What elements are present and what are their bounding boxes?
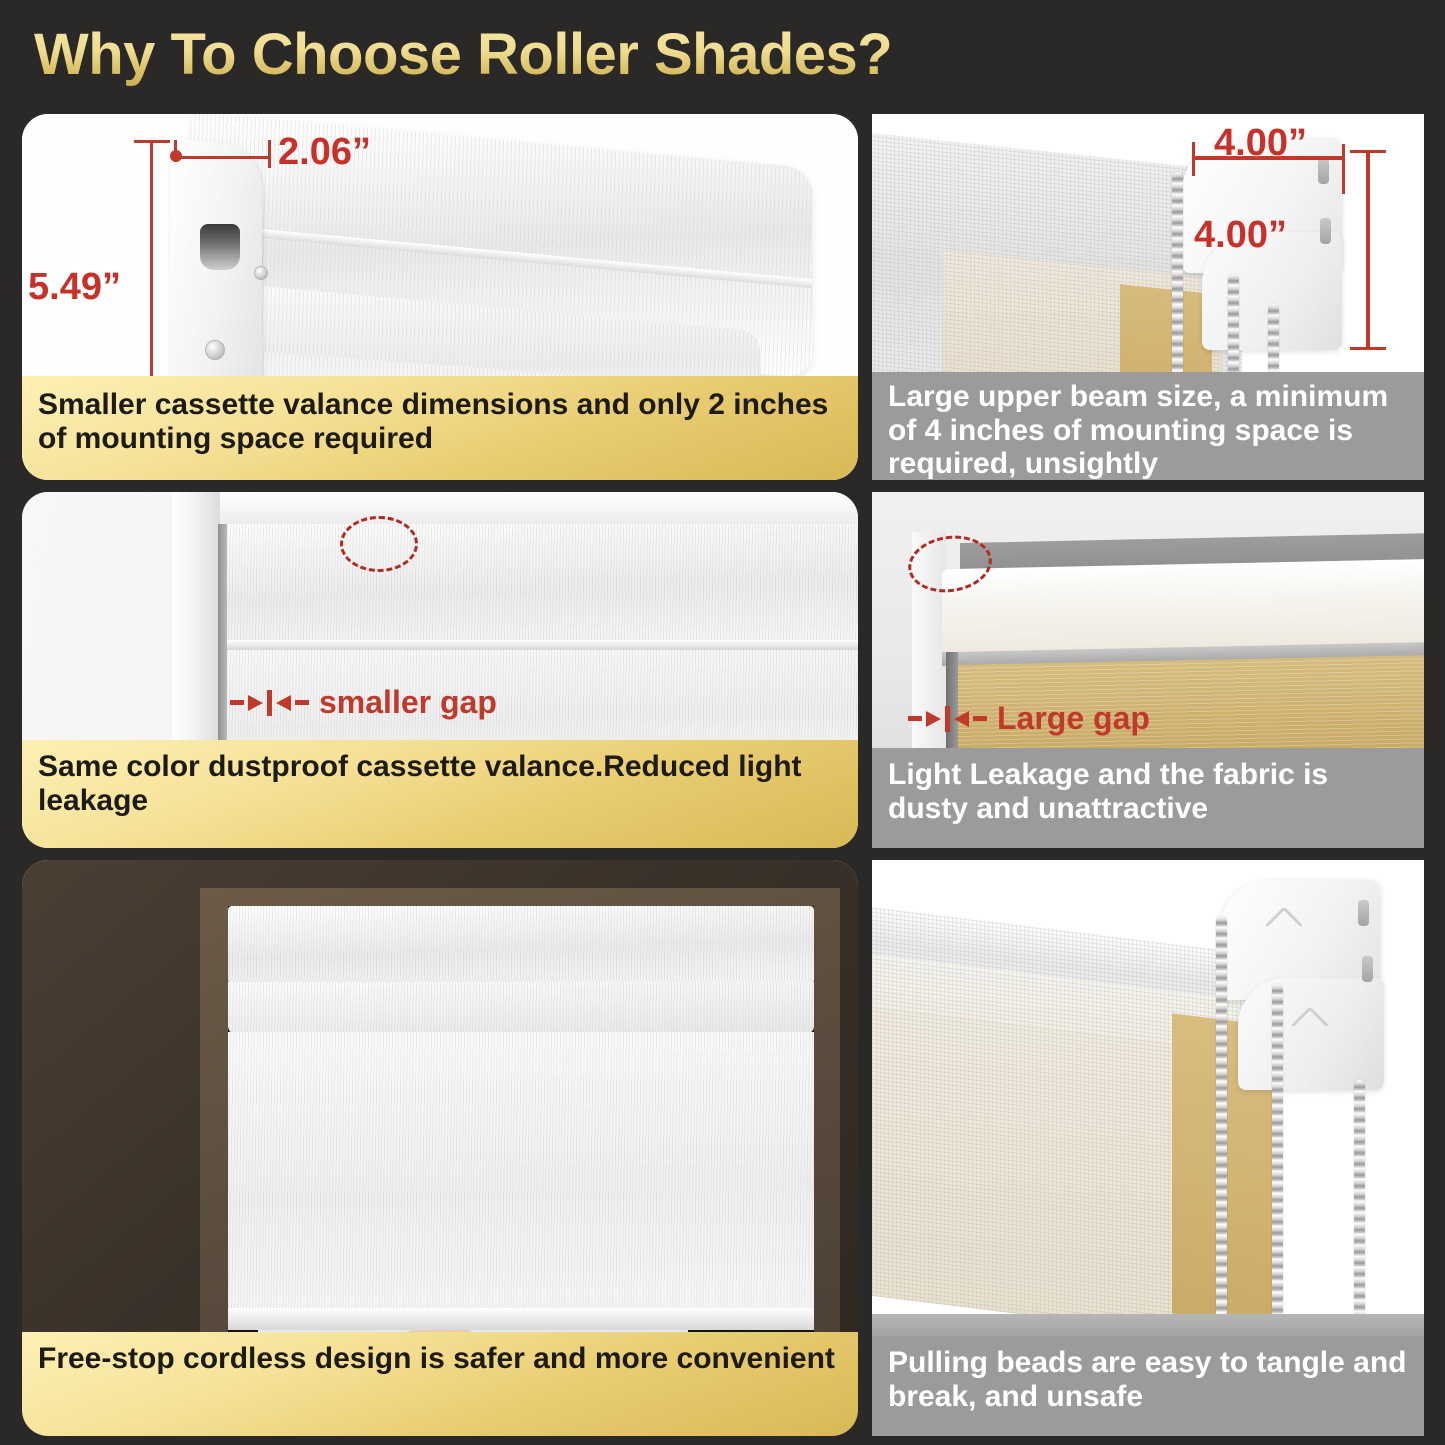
dimension-width-label: 2.06” bbox=[278, 131, 371, 174]
arrow-right-icon bbox=[926, 711, 941, 727]
valance-end-slot bbox=[200, 224, 240, 270]
smaller-gap-annotation: smaller gap bbox=[230, 684, 497, 721]
panel-cassette-valance-dimensions: 2.06” 5.49” Smaller cassette valance dim… bbox=[22, 114, 858, 480]
bracket-slot-2-icon bbox=[1362, 956, 1373, 982]
caption-large-upper-beam: Large upper beam size, a minimum of 4 in… bbox=[872, 372, 1424, 480]
arrow-right-icon bbox=[248, 695, 263, 711]
dimension-height-label: 5.49” bbox=[28, 266, 121, 309]
bead-chain-right bbox=[1354, 1080, 1365, 1334]
floor-shadow-band bbox=[872, 1314, 1424, 1336]
caption-pulling-beads: Pulling beads are easy to tangle and bre… bbox=[872, 1336, 1424, 1436]
page-title: Why To Choose Roller Shades? bbox=[34, 21, 892, 88]
large-gap-label: Large gap bbox=[997, 700, 1150, 737]
panel-pulling-beads: Pulling beads are easy to tangle and bre… bbox=[872, 860, 1424, 1436]
caption-free-stop-cordless: Free-stop cordless design is safer and m… bbox=[22, 1332, 858, 1436]
shade-cassette-head bbox=[228, 906, 814, 984]
bracket-slot-icon bbox=[1358, 900, 1369, 926]
bracket-slot-2-icon bbox=[1320, 218, 1331, 244]
shade-cassette-lip bbox=[228, 982, 814, 1034]
bracket-slot-icon bbox=[1318, 158, 1329, 184]
arrow-stem-left bbox=[295, 700, 309, 705]
panel-free-stop-cordless: Free-stop cordless design is safer and m… bbox=[22, 860, 858, 1436]
smaller-gap-label: smaller gap bbox=[319, 684, 497, 721]
dim-dot-icon bbox=[170, 150, 182, 162]
caption-dustproof-cassette-valance: Same color dustproof cassette valance.Re… bbox=[22, 740, 858, 848]
dim-tick-right bbox=[268, 140, 271, 168]
caption-light-leakage: Light Leakage and the fabric is dusty an… bbox=[872, 748, 1424, 848]
valance-screw-icon bbox=[205, 340, 225, 360]
panel-light-leakage: Large gap Light Leakage and the fabric i… bbox=[872, 492, 1424, 848]
arrow-stem-right bbox=[230, 700, 244, 705]
beam-width-label: 4.00” bbox=[1214, 122, 1307, 165]
comparison-grid: 2.06” 5.49” Smaller cassette valance dim… bbox=[0, 108, 1445, 1445]
arrow-stem-left bbox=[973, 716, 987, 721]
arrow-left-icon bbox=[276, 695, 291, 711]
caption-cassette-valance-dimensions: Smaller cassette valance dimensions and … bbox=[22, 376, 858, 480]
window-frame-top bbox=[172, 492, 858, 526]
beam-dim-tick-top bbox=[1350, 150, 1386, 153]
beam-dim-line-height bbox=[1366, 150, 1370, 350]
arrow-left-icon bbox=[954, 711, 969, 727]
shade-fabric-panel bbox=[228, 1032, 814, 1322]
bead-chain-left bbox=[1216, 916, 1227, 1334]
panel-dustproof-cassette-valance: smaller gap Same color dustproof cassett… bbox=[22, 492, 858, 848]
shade-bottom-bar bbox=[228, 1308, 814, 1330]
valance-screw-small-icon bbox=[254, 266, 268, 280]
shade-upper-section bbox=[222, 524, 858, 642]
arrow-stem-right bbox=[908, 716, 922, 721]
large-gap-annotation: Large gap bbox=[908, 700, 1150, 737]
shade-left-edge bbox=[218, 524, 227, 764]
dim-tick-top bbox=[134, 140, 170, 143]
gap-marker-bar bbox=[267, 690, 272, 716]
header-bar: Why To Choose Roller Shades? bbox=[0, 0, 1445, 108]
beam-dim-tick-bottom bbox=[1350, 347, 1386, 350]
beam-height-label: 4.00” bbox=[1194, 214, 1287, 257]
panel-large-upper-beam: 4.00” 4.00” Large upper beam size, a min… bbox=[872, 114, 1424, 480]
dashed-circle-annotation bbox=[340, 516, 418, 572]
gap-marker-bar bbox=[945, 706, 950, 732]
beam-dim-tick-right bbox=[1342, 144, 1345, 194]
bead-chain-middle bbox=[1272, 984, 1283, 1334]
dim-line-width bbox=[174, 156, 270, 159]
